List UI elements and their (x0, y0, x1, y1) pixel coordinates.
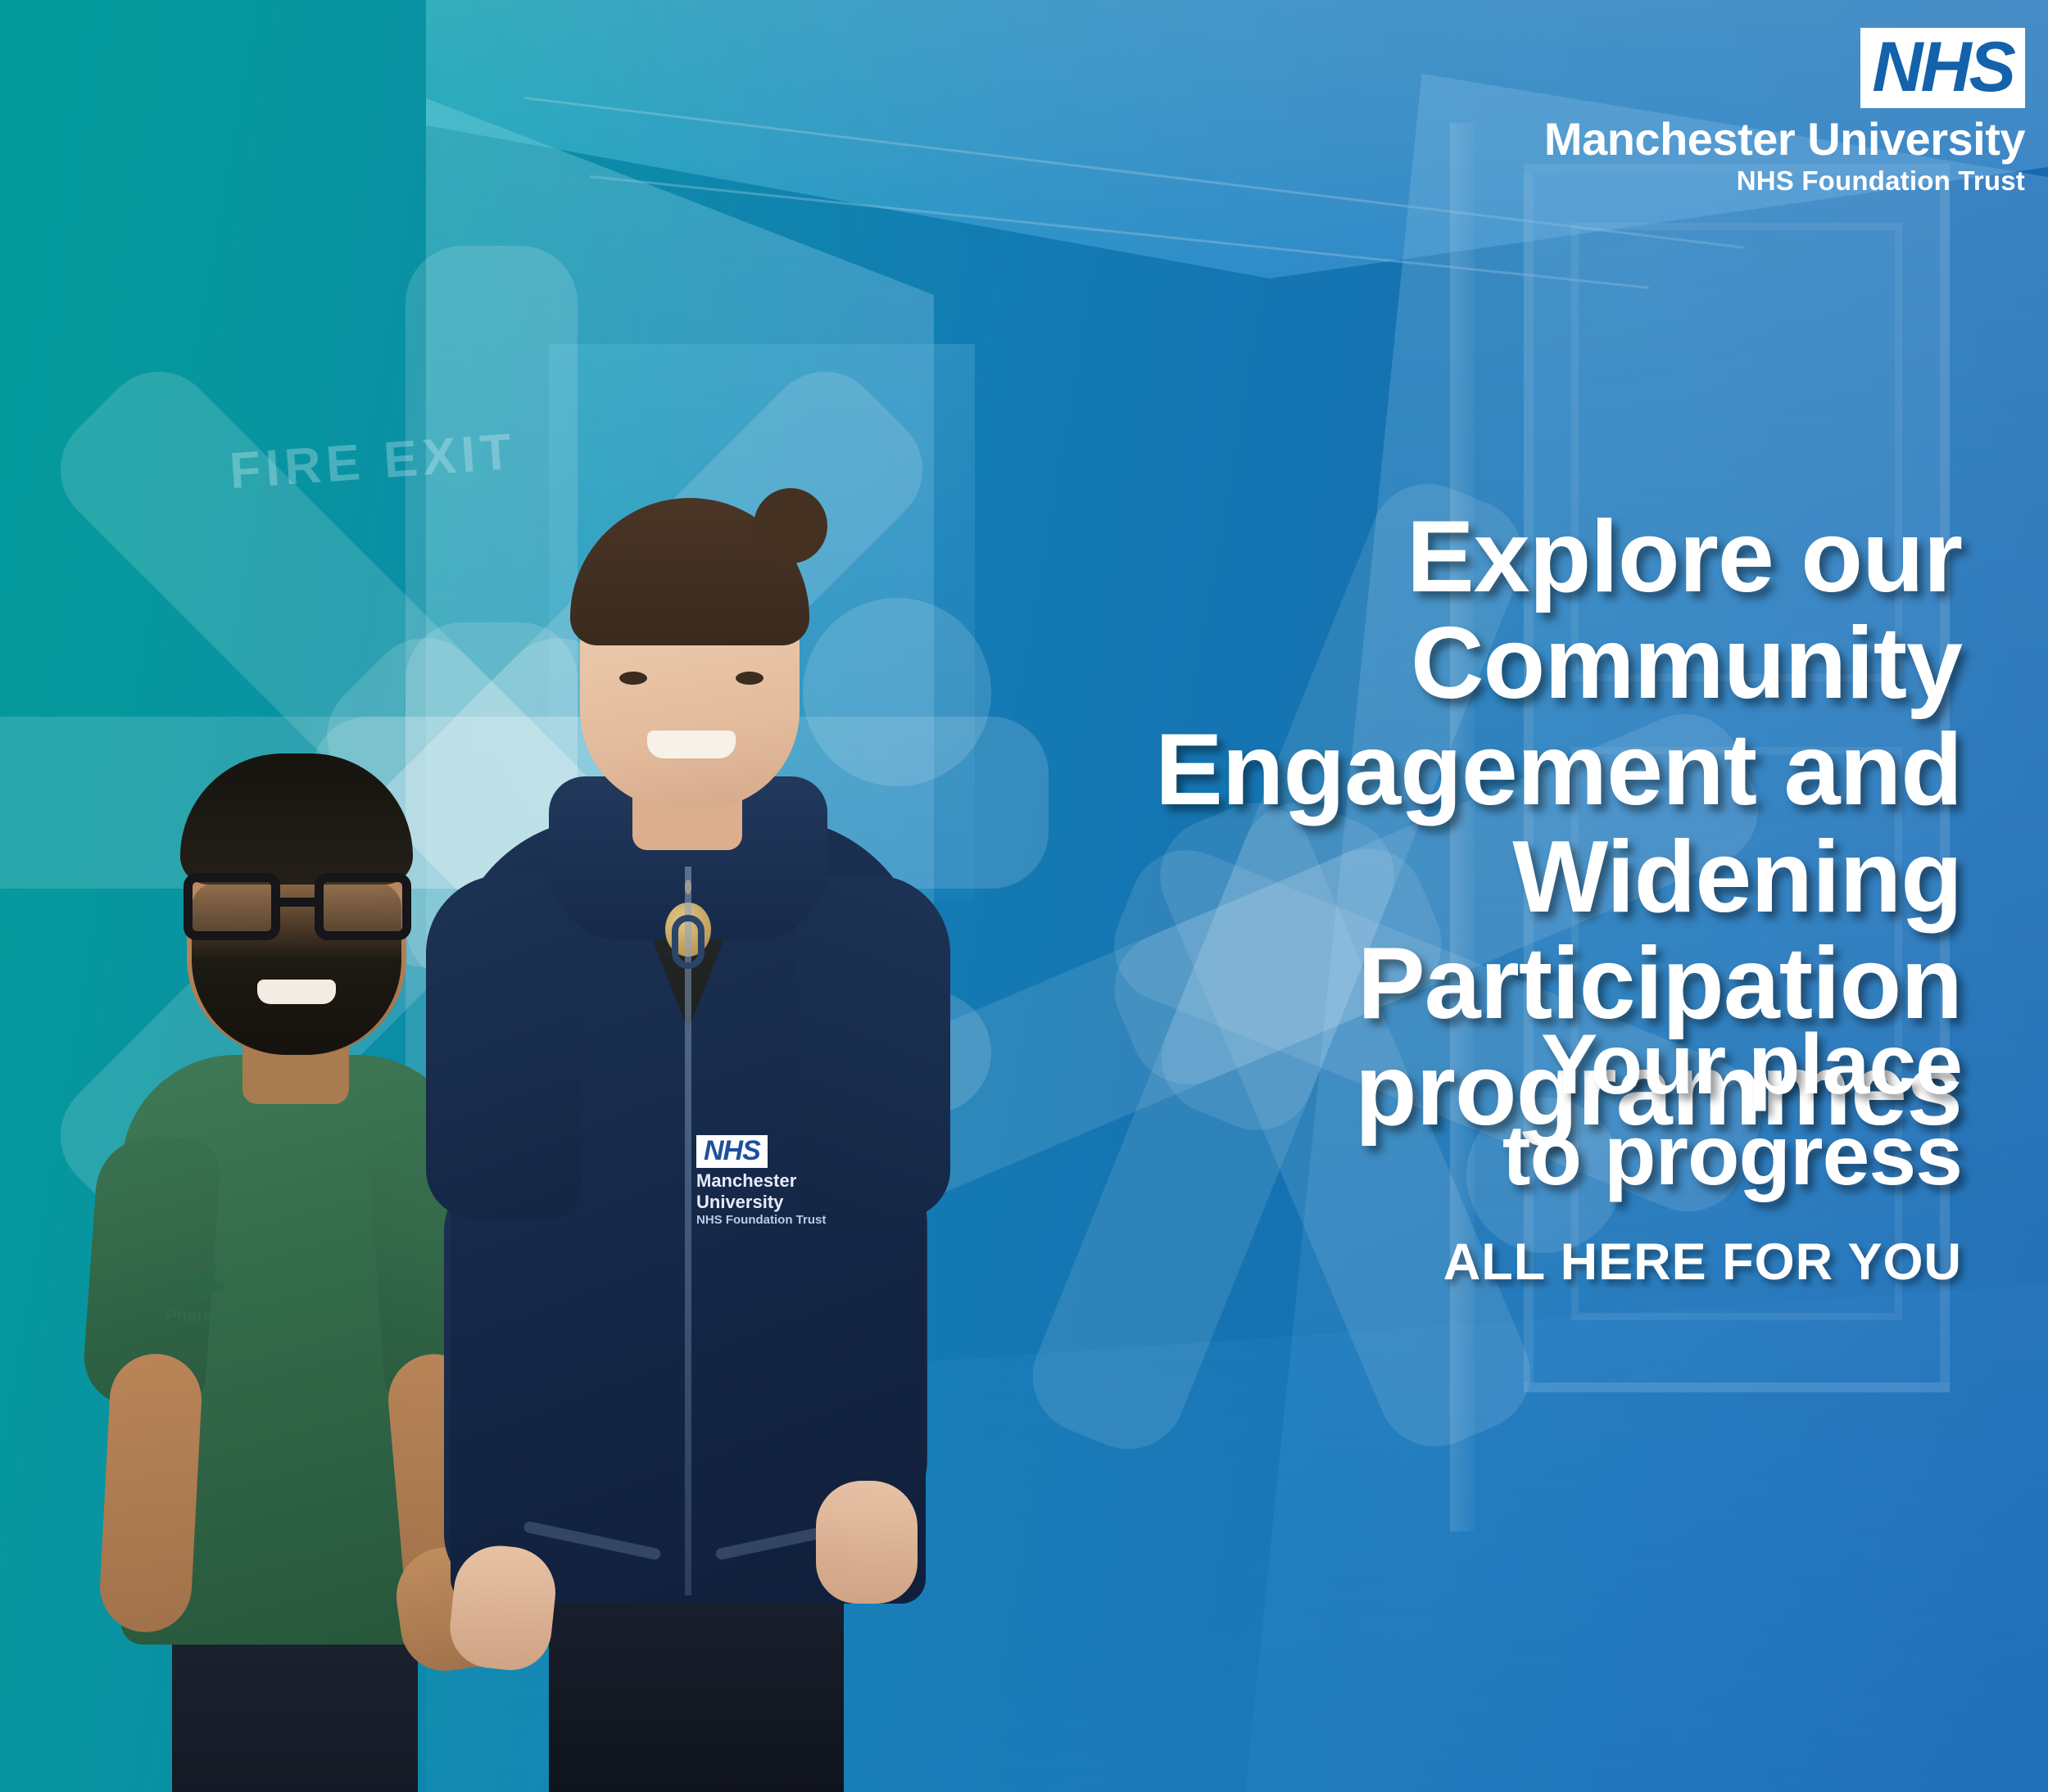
fleece-badge-line-2: NHS Foundation Trust (696, 1213, 860, 1227)
headline-line-1: Explore our Community (938, 504, 1962, 717)
nhs-logo-mark: NHS (696, 1135, 768, 1168)
fleece-nhs-badge: NHS Manchester University NHS Foundation… (696, 1135, 860, 1227)
nhs-trust-logo[interactable]: NHS Manchester University NHS Foundation… (1544, 28, 2025, 196)
arm-left (97, 1351, 204, 1634)
glasses-icon (179, 873, 416, 940)
fleece-badge-line-1: Manchester University (696, 1170, 860, 1213)
nhs-logo-mark: NHS (1860, 28, 2025, 108)
pharmacy-badge: Pharmacy (157, 1263, 256, 1333)
staff-photo-group: Pharmacy NHS (0, 351, 1065, 1792)
nhs-promotional-banner: FIRE EXIT (0, 0, 2048, 1792)
glasses-bridge (280, 898, 315, 907)
glasses-lens-left (184, 873, 280, 940)
headline-line-2: Engagement and Widening (938, 717, 1962, 930)
trust-name-line-2: NHS Foundation Trust (1544, 166, 2025, 196)
fleece-zipper (685, 867, 691, 1595)
pharmacy-badge-label: Pharmacy (165, 1306, 247, 1325)
tagline: ALL HERE FOR YOU (938, 1233, 1962, 1292)
eye-left (619, 672, 647, 685)
person-female-nhs-staff: NHS Manchester University NHS Foundation… (426, 400, 950, 1792)
smile (257, 980, 336, 1004)
hair (180, 753, 413, 885)
zipper-pull (672, 915, 705, 969)
trust-name-line-1: Manchester University (1544, 115, 2025, 164)
strapline-block: Your place to progress (938, 1020, 1962, 1202)
shoulder-left (426, 875, 582, 1219)
hair-bun (754, 488, 827, 563)
strapline-line-1: Your place (938, 1020, 1962, 1111)
glasses-lens-right (315, 873, 411, 940)
strapline-line-2: to progress (938, 1111, 1962, 1201)
eye-right (736, 672, 763, 685)
hand-right (816, 1481, 918, 1604)
smile (647, 731, 736, 758)
cross-icon (183, 1258, 230, 1306)
